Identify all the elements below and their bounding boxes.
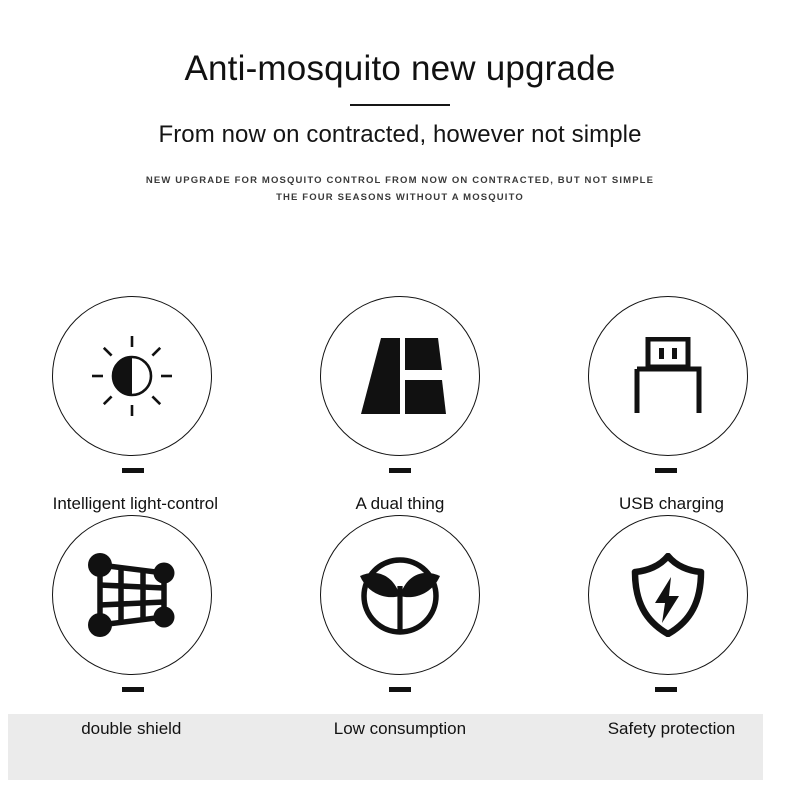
usb-plug-icon [588, 296, 748, 456]
feature-label: A dual thing [355, 493, 444, 515]
feature-label: double shield [81, 718, 181, 740]
feature-label: Low consumption [334, 718, 466, 740]
caption-line-2: THE FOUR SEASONS WITHOUT A MOSQUITO [0, 189, 800, 206]
promo-page: Anti-mosquito new upgrade From now on co… [0, 0, 800, 800]
mesh-net-icon [52, 515, 212, 675]
caption-line-1: NEW UPGRADE FOR MOSQUITO CONTROL FROM NO… [0, 172, 800, 189]
icon-circle [588, 296, 748, 456]
shield-bolt-icon [588, 515, 748, 675]
item-dash [655, 468, 677, 473]
item-dash [122, 468, 144, 473]
sprout-leaf-icon [320, 515, 480, 675]
divider-line [350, 104, 450, 106]
icon-circle [588, 515, 748, 675]
feature-row: Intelligent light-control [0, 296, 800, 515]
icon-circle [320, 296, 480, 456]
caption-block: NEW UPGRADE FOR MOSQUITO CONTROL FROM NO… [0, 150, 800, 206]
icon-circle [320, 515, 480, 675]
item-dash [389, 687, 411, 692]
header: Anti-mosquito new upgrade From now on co… [0, 0, 800, 206]
feature-label: Safety protection [608, 718, 736, 740]
page-title: Anti-mosquito new upgrade [0, 0, 800, 90]
page-subtitle: From now on contracted, however not simp… [0, 120, 800, 150]
feature-item-safety-protection[interactable]: Safety protection [533, 515, 800, 740]
feature-item-double-shield[interactable]: double shield [0, 515, 267, 740]
feature-item-low-consumption[interactable]: Low consumption [267, 515, 534, 740]
icon-circle [52, 296, 212, 456]
sun-half-icon [52, 296, 212, 456]
title-divider [0, 90, 800, 120]
item-dash [389, 468, 411, 473]
feature-item-intelligent-light-control[interactable]: Intelligent light-control [0, 296, 267, 515]
item-dash [655, 687, 677, 692]
icon-circle [52, 515, 212, 675]
feature-grid: Intelligent light-control [0, 296, 800, 740]
dual-panels-icon [320, 296, 480, 456]
feature-item-usb-charging[interactable]: USB charging [533, 296, 800, 515]
item-dash [122, 687, 144, 692]
feature-label: Intelligent light-control [53, 493, 218, 515]
feature-label: USB charging [619, 493, 724, 515]
feature-row: double shield [0, 515, 800, 740]
feature-item-a-dual-thing[interactable]: A dual thing [267, 296, 534, 515]
